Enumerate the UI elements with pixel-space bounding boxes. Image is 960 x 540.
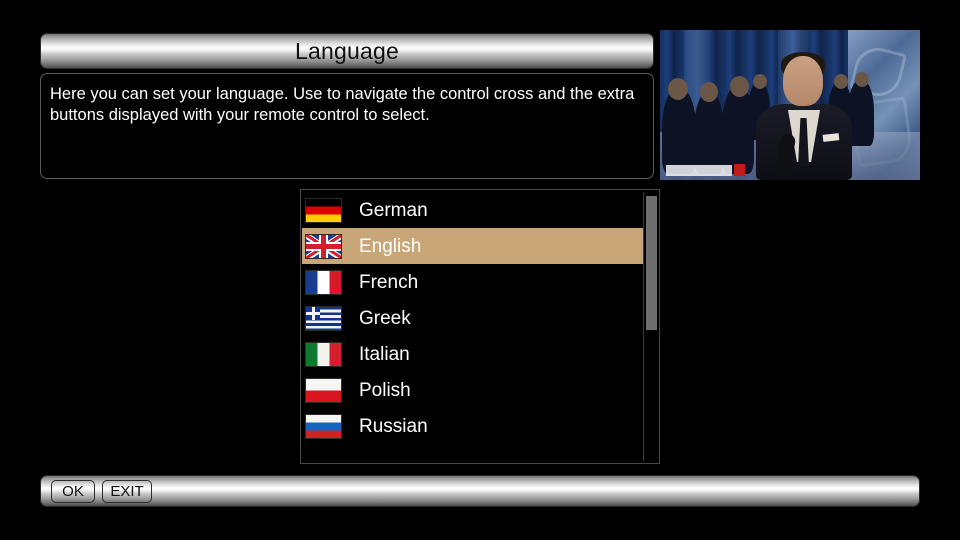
video-crowd-head: [834, 74, 848, 89]
help-box: Here you can set your language. Use to n…: [40, 73, 654, 179]
help-text: Here you can set your language. Use to n…: [50, 84, 636, 126]
list-item[interactable]: Italian: [302, 336, 642, 372]
flag-russian-icon: [305, 414, 342, 439]
tv-osd-screen: Language Here you can set your language.…: [0, 0, 960, 540]
bottom-bar: OK EXIT: [40, 475, 920, 507]
language-label: French: [359, 273, 418, 292]
language-label: Italian: [359, 345, 410, 364]
list-item[interactable]: French: [302, 264, 642, 300]
list-item[interactable]: Russian: [302, 408, 642, 444]
flag-german-icon: [305, 198, 342, 223]
language-label: Polish: [359, 381, 411, 400]
video-crowd-head: [753, 74, 767, 89]
video-crowd-head: [855, 72, 869, 87]
language-label: Russian: [359, 417, 428, 436]
language-list-panel[interactable]: German English French: [300, 189, 660, 464]
channel-logo-icon: [666, 165, 732, 176]
list-item[interactable]: English: [302, 228, 643, 264]
language-label: Greek: [359, 309, 411, 328]
channel-logo-badge-icon: [734, 164, 745, 176]
flag-english-icon: [305, 234, 342, 259]
page-title: Language: [41, 34, 653, 70]
flag-greek-icon: [305, 306, 342, 331]
language-label: German: [359, 201, 428, 220]
flag-polish-icon: [305, 378, 342, 403]
video-preview[interactable]: [660, 30, 920, 180]
exit-button[interactable]: EXIT: [102, 480, 152, 503]
flag-italian-icon: [305, 342, 342, 367]
video-crowd-head: [730, 76, 749, 97]
language-label: English: [359, 237, 421, 256]
video-crowd-figure: [694, 92, 724, 174]
video-crowd-figure: [662, 88, 696, 174]
title-bar: Language: [40, 33, 654, 69]
flag-french-icon: [305, 270, 342, 295]
video-crowd-head: [668, 78, 688, 100]
list-item[interactable]: Polish: [302, 372, 642, 408]
list-item[interactable]: German: [302, 192, 642, 228]
list-item[interactable]: Greek: [302, 300, 642, 336]
list-scrollbar[interactable]: [643, 192, 657, 461]
ok-button[interactable]: OK: [51, 480, 95, 503]
video-reporter-head: [783, 56, 823, 106]
scrollbar-thumb[interactable]: [646, 196, 657, 330]
video-crowd-head: [700, 82, 718, 102]
language-list: German English French: [302, 192, 642, 444]
